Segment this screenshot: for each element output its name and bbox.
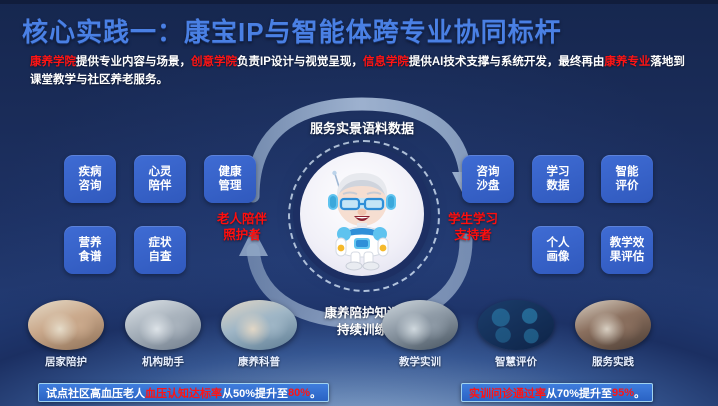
card-label: 学习数据	[547, 165, 570, 194]
kangbao-robot-mascot-icon	[316, 160, 408, 272]
card-label: 健康管理	[219, 165, 242, 194]
card-label-line1: 症状	[149, 236, 172, 250]
photo-image	[382, 300, 458, 350]
slide-canvas: 核心实践一：康宝IP与智能体跨专业协同标杆 康养学院提供专业内容与场景，创意学院…	[0, 0, 718, 406]
card-label-line1: 心灵	[149, 165, 172, 179]
card-label: 症状自查	[149, 236, 172, 265]
scenario-photo-health-education	[221, 300, 297, 350]
role-label-student-supporter: 学生学习 支持者	[434, 212, 512, 243]
card-label-line1: 咨询	[477, 165, 500, 179]
badge-left-part-1: 血压认知达标率	[145, 385, 222, 401]
capability-card-right-3[interactable]: 个人画像	[532, 226, 584, 274]
scenario-photo-caption: 教学实训	[375, 354, 465, 369]
page-title: 核心实践一：康宝IP与智能体跨专业协同标杆	[22, 12, 562, 49]
card-label-line2: 食谱	[79, 250, 102, 264]
card-label-line2: 咨询	[79, 179, 102, 193]
scenario-photo-care-institution	[125, 300, 201, 350]
capability-card-left-2[interactable]: 健康管理	[204, 155, 256, 203]
card-label-line2: 自查	[149, 250, 172, 264]
subtitle-part-1: 提供专业内容与场景，	[76, 56, 191, 68]
card-label: 智能评价	[616, 165, 639, 194]
capability-card-left-3[interactable]: 营养食谱	[64, 226, 116, 274]
capability-card-right-1[interactable]: 学习数据	[532, 155, 584, 203]
outcome-badge-right: 实训问诊通过率从70%提升至95%。	[461, 383, 653, 402]
scenario-photo-lab-training	[382, 300, 458, 350]
card-label-line1: 学习	[547, 165, 570, 179]
card-label-line2: 管理	[219, 179, 242, 193]
capability-card-right-0[interactable]: 咨询沙盘	[462, 155, 514, 203]
card-label-line1: 智能	[616, 165, 639, 179]
card-label: 营养食谱	[79, 236, 102, 265]
photo-image	[575, 300, 651, 350]
card-label-line1: 教学效	[610, 236, 645, 250]
card-label-line2: 沙盘	[477, 179, 500, 193]
subtitle-part-6: 康养专业	[604, 56, 650, 68]
photo-image	[28, 300, 104, 350]
card-label-line2: 评价	[616, 179, 639, 193]
role-left-line2: 照护者	[203, 228, 281, 244]
outcome-badge-left: 试点社区高血压老人血压认知达标率从50%提升至80%。	[38, 383, 329, 402]
center-top-label: 服务实景语料数据	[300, 118, 424, 137]
scenario-photo-caption: 康养科普	[214, 354, 304, 369]
capability-card-right-2[interactable]: 智能评价	[601, 155, 653, 203]
scenario-photo-caption: 智慧评价	[471, 354, 561, 369]
role-right-line2: 支持者	[434, 228, 512, 244]
capability-card-left-0[interactable]: 疾病咨询	[64, 155, 116, 203]
photo-image	[125, 300, 201, 350]
card-label: 心灵陪伴	[149, 165, 172, 194]
subtitle-part-2: 创意学院	[191, 56, 237, 68]
photo-image	[478, 300, 554, 350]
subtitle-part-3: 负责IP设计与视觉呈现，	[237, 56, 363, 68]
capability-card-left-4[interactable]: 症状自查	[134, 226, 186, 274]
card-label: 咨询沙盘	[477, 165, 500, 194]
scenario-photo-caption: 服务实践	[568, 354, 658, 369]
card-label: 疾病咨询	[79, 165, 102, 194]
badge-right-part-2: 95%	[612, 387, 634, 399]
card-label-line1: 健康	[219, 165, 242, 179]
badge-right-part-0: 实训问诊通过率	[469, 385, 546, 401]
top-edge-bar	[0, 0, 718, 4]
role-right-line1: 学生学习	[434, 212, 512, 228]
badge-right-part-1: 从70%提升至	[546, 385, 612, 401]
card-label-line1: 个人	[547, 236, 570, 250]
card-label: 教学效果评估	[610, 236, 645, 265]
scenario-photo-smart-evaluation	[478, 300, 554, 350]
scenario-photo-caption: 机构助手	[118, 354, 208, 369]
card-label: 个人画像	[547, 236, 570, 265]
subtitle-part-0: 康养学院	[30, 56, 76, 68]
subtitle-part-4: 信息学院	[363, 56, 409, 68]
badge-left-part-3: 80%	[288, 387, 310, 399]
scenario-photo-caption: 居家陪护	[21, 354, 111, 369]
card-label-line1: 营养	[79, 236, 102, 250]
badge-right-part-3: 。	[634, 385, 645, 401]
capability-card-right-4[interactable]: 教学效果评估	[601, 226, 653, 274]
badge-left-part-4: 。	[310, 385, 321, 401]
subtitle-paragraph: 康养学院提供专业内容与场景，创意学院负责IP设计与视觉呈现，信息学院提供AI技术…	[30, 54, 690, 90]
card-label-line2: 陪伴	[149, 179, 172, 193]
subtitle-part-5: 提供AI技术支撑与系统开发，最终再由	[409, 56, 605, 68]
badge-left-part-0: 试点社区高血压老人	[46, 385, 145, 401]
scenario-photo-service-practice	[575, 300, 651, 350]
card-label-line2: 果评估	[610, 250, 645, 264]
scenario-photo-elderly-home	[28, 300, 104, 350]
badge-left-part-2: 从50%提升至	[222, 385, 288, 401]
card-label-line2: 数据	[547, 179, 570, 193]
card-label-line1: 疾病	[79, 165, 102, 179]
photo-image	[221, 300, 297, 350]
role-label-elderly-companion: 老人陪伴 照护者	[203, 212, 281, 243]
card-label-line2: 画像	[547, 250, 570, 264]
capability-card-left-1[interactable]: 心灵陪伴	[134, 155, 186, 203]
role-left-line1: 老人陪伴	[203, 212, 281, 228]
